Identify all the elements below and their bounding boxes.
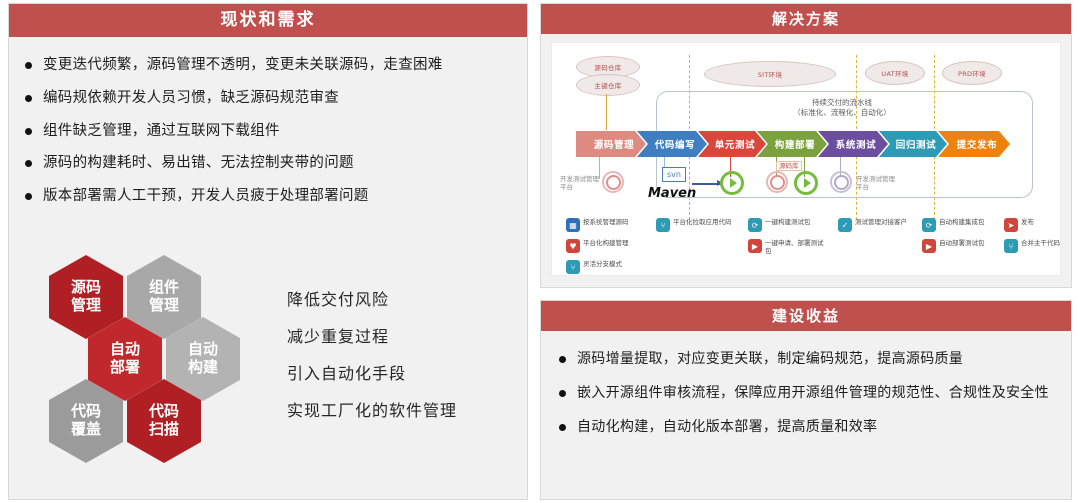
gear-icon: [602, 171, 624, 193]
arrow-maven-to-test: [692, 183, 722, 185]
svn-icon: svn: [662, 167, 686, 182]
ellipse-env-prd: PRD环境: [942, 61, 1002, 85]
play-icon: [794, 171, 818, 195]
stage-build-deploy[interactable]: 构建部署: [757, 131, 827, 157]
legend-label: 合并主干代码: [1021, 239, 1060, 247]
legend-group-4: ✓ 测试管理对接客户: [838, 218, 907, 239]
hexagon-label-line1: 代码: [71, 403, 101, 421]
legend-label: 平台化拉取应用代码: [673, 218, 732, 226]
legend-label: 测试管理对接客户: [855, 218, 907, 226]
benefit-item: 减少重复过程: [287, 323, 457, 347]
legend-label: 自动部署测试包: [939, 239, 985, 247]
benefit-item: 降低交付风险: [287, 286, 457, 310]
legend-item: ♥ 平台化构建管理: [566, 239, 629, 253]
list-item: 变更迭代频繁，源码管理不透明，变更未关联源码，走查困难: [23, 55, 513, 77]
legend-item: ✓ 测试管理对接客户: [838, 218, 907, 232]
panel-solution-body: 源码仓库 主键仓库 SIT环境 UAT环境 PRD环境: [541, 34, 1071, 284]
ellipse-build-repo: 主键仓库: [576, 74, 640, 96]
hexagon-label-line1: 代码: [149, 403, 179, 421]
pipeline-title-line1: 持续交付的流水线: [702, 98, 982, 108]
legend-label: 一键申请、部署测试包: [765, 239, 827, 255]
play-icon: ▶: [922, 239, 936, 253]
heart-icon: ♥: [566, 239, 580, 253]
panel-solution-title: 解决方案: [541, 4, 1071, 34]
legend-label: 灵活分支模式: [583, 260, 622, 268]
panel-gain-title: 建设收益: [541, 301, 1071, 331]
env-label: PRD环境: [958, 68, 986, 78]
panel-gain-body: 源码增量提取，对应变更关联，制定编码规范，提高源码质量 嵌入开源组件审核流程，保…: [541, 331, 1071, 438]
stage-code-writing[interactable]: 代码编写: [637, 131, 707, 157]
legend-group-5: ⟳ 自动构建集成包 ▶ 自动部署测试包: [922, 218, 985, 260]
play-icon: [720, 171, 744, 195]
refresh-icon: ⟳: [748, 218, 762, 232]
panel-current-body: 变更迭代频繁，源码管理不透明，变更未关联源码，走查困难 编码规依赖开发人员习惯，…: [9, 37, 527, 208]
stage-submit-release[interactable]: 提交发布: [938, 131, 1010, 157]
panel-construction-gain: 建设收益 源码增量提取，对应变更关联，制定编码规范，提高源码质量 嵌入开源组件审…: [540, 300, 1072, 500]
legend-label: 自动构建集成包: [939, 218, 985, 226]
hexagon-label-line1: 组件: [149, 279, 179, 297]
list-item: 自动化构建，自动化版本部署，提高质量和效率: [557, 417, 1053, 438]
current-bullet-list: 变更迭代频繁，源码管理不透明，变更未关联源码，走查困难 编码规依赖开发人员习惯，…: [23, 55, 513, 208]
legend-item: ▶ 自动部署测试包: [922, 239, 985, 253]
refresh-icon: ⟳: [922, 218, 936, 232]
legend-item: ⟳ 一键构建测试包: [748, 218, 827, 232]
hexagon-cluster: 源码 管理 组件 管理 自动 部署 自动 构建 代码 覆盖 代码 扫描: [37, 247, 267, 477]
benefit-text-list: 降低交付风险 减少重复过程 引入自动化手段 实现工厂化的软件管理: [287, 286, 457, 434]
legend-item: ▶ 一键申请、部署测试包: [748, 239, 827, 255]
legend-label: 按系统管理源码: [583, 218, 629, 226]
panel-solution: 解决方案 源码仓库 主键仓库 SIT环境: [540, 3, 1072, 288]
slide-root: 现状和需求 变更迭代频繁，源码管理不透明，变更未关联源码，走查困难 编码规依赖开…: [0, 0, 1080, 503]
clock-icon: [830, 171, 852, 193]
check-icon: ✓: [838, 218, 852, 232]
hexagon-label-line2: 扫描: [149, 421, 179, 439]
stage-regression-test[interactable]: 回归测试: [879, 131, 947, 157]
node-label-dev-test-platform-right: 开发测试管理平台: [856, 175, 898, 192]
legend-item: ⑂ 合并主干代码: [1004, 239, 1060, 253]
hexagon-label-line2: 覆盖: [71, 421, 101, 439]
list-item: 编码规依赖开发人员习惯，缺乏源码规范审查: [23, 88, 513, 110]
stage-unit-test[interactable]: 单元测试: [698, 131, 766, 157]
gear-icon: [766, 171, 788, 193]
list-item: 源码的构建耗时、易出错、无法控制夹带的问题: [23, 153, 513, 175]
legend-group-2: ⑂ 平台化拉取应用代码: [656, 218, 732, 239]
stage-source-management[interactable]: 源码管理: [576, 131, 646, 157]
legend-item: ⟳ 自动构建集成包: [922, 218, 985, 232]
hexagon-label-line2: 构建: [188, 359, 218, 377]
panel-current-title: 现状和需求: [9, 4, 527, 37]
maven-logo: Maven: [648, 186, 696, 201]
branch-icon: ⑂: [1004, 239, 1018, 253]
hexagon-label-line2: 管理: [149, 297, 179, 315]
panel-current-situation: 现状和需求 变更迭代频繁，源码管理不透明，变更未关联源码，走查困难 编码规依赖开…: [8, 3, 528, 500]
hexagon-label-line1: 源码: [71, 279, 101, 297]
legend-item: ➤ 发布: [1004, 218, 1060, 232]
ellipse-env-sit: SIT环境: [704, 61, 836, 87]
pipeline-title-line2: （标准化、流程化、自动化）: [702, 108, 982, 118]
ellipse-label: 主键仓库: [594, 80, 621, 90]
ellipse-env-uat: UAT环境: [865, 61, 925, 85]
repo-connector-line: [606, 94, 607, 130]
legend-item: ▦ 按系统管理源码: [566, 218, 629, 232]
list-item: 版本部署需人工干预，开发人员疲于处理部署问题: [23, 186, 513, 208]
legend-label: 平台化构建管理: [583, 239, 629, 247]
legend-group-3: ⟳ 一键构建测试包 ▶ 一键申请、部署测试包: [748, 218, 827, 262]
pipeline-diagram: 源码仓库 主键仓库 SIT环境 UAT环境 PRD环境: [551, 42, 1061, 276]
build-repo-tag: 源码库: [776, 161, 802, 171]
send-icon: ➤: [1004, 218, 1018, 232]
ellipse-label: 源码仓库: [594, 62, 621, 72]
env-label: SIT环境: [758, 69, 783, 79]
legend-label: 一键构建测试包: [765, 218, 811, 226]
list-item: 嵌入开源组件审核流程，保障应用开源组件管理的规范性、合规性及安全性: [557, 383, 1053, 404]
play-icon: ▶: [748, 239, 762, 253]
list-item: 组件缺乏管理，通过互联网下载组件: [23, 121, 513, 143]
benefit-item: 实现工厂化的软件管理: [287, 397, 457, 421]
hexagon-label-line2: 部署: [110, 359, 140, 377]
hexagon-label-line1: 自动: [188, 341, 218, 359]
stage-system-test[interactable]: 系统测试: [818, 131, 888, 157]
legend-group-1: ▦ 按系统管理源码 ♥ 平台化构建管理 ⑂ 灵活分支模式: [566, 218, 629, 281]
benefit-item: 引入自动化手段: [287, 360, 457, 384]
pipeline-title: 持续交付的流水线 （标准化、流程化、自动化）: [702, 98, 982, 118]
hexagon-label-line1: 自动: [110, 341, 140, 359]
gain-bullet-list: 源码增量提取，对应变更关联，制定编码规范，提高源码质量 嵌入开源组件审核流程，保…: [557, 349, 1053, 438]
legend-group-6: ➤ 发布 ⑂ 合并主干代码: [1004, 218, 1060, 260]
list-item: 源码增量提取，对应变更关联，制定编码规范，提高源码质量: [557, 349, 1053, 370]
node-label-dev-test-platform-left: 开发测试管理平台: [560, 175, 602, 192]
pipeline-stage-row: 源码管理 代码编写 单元测试 构建部署 系统测试 回归测试 提交发布: [576, 131, 1001, 157]
branch-icon: ⑂: [566, 260, 580, 274]
legend-item: ⑂ 平台化拉取应用代码: [656, 218, 732, 232]
hexagon-label-line2: 管理: [71, 297, 101, 315]
env-label: UAT环境: [881, 68, 908, 78]
legend-label: 发布: [1021, 218, 1034, 226]
grid-icon: ▦: [566, 218, 580, 232]
branch-icon: ⑂: [656, 218, 670, 232]
legend-item: ⑂ 灵活分支模式: [566, 260, 629, 274]
